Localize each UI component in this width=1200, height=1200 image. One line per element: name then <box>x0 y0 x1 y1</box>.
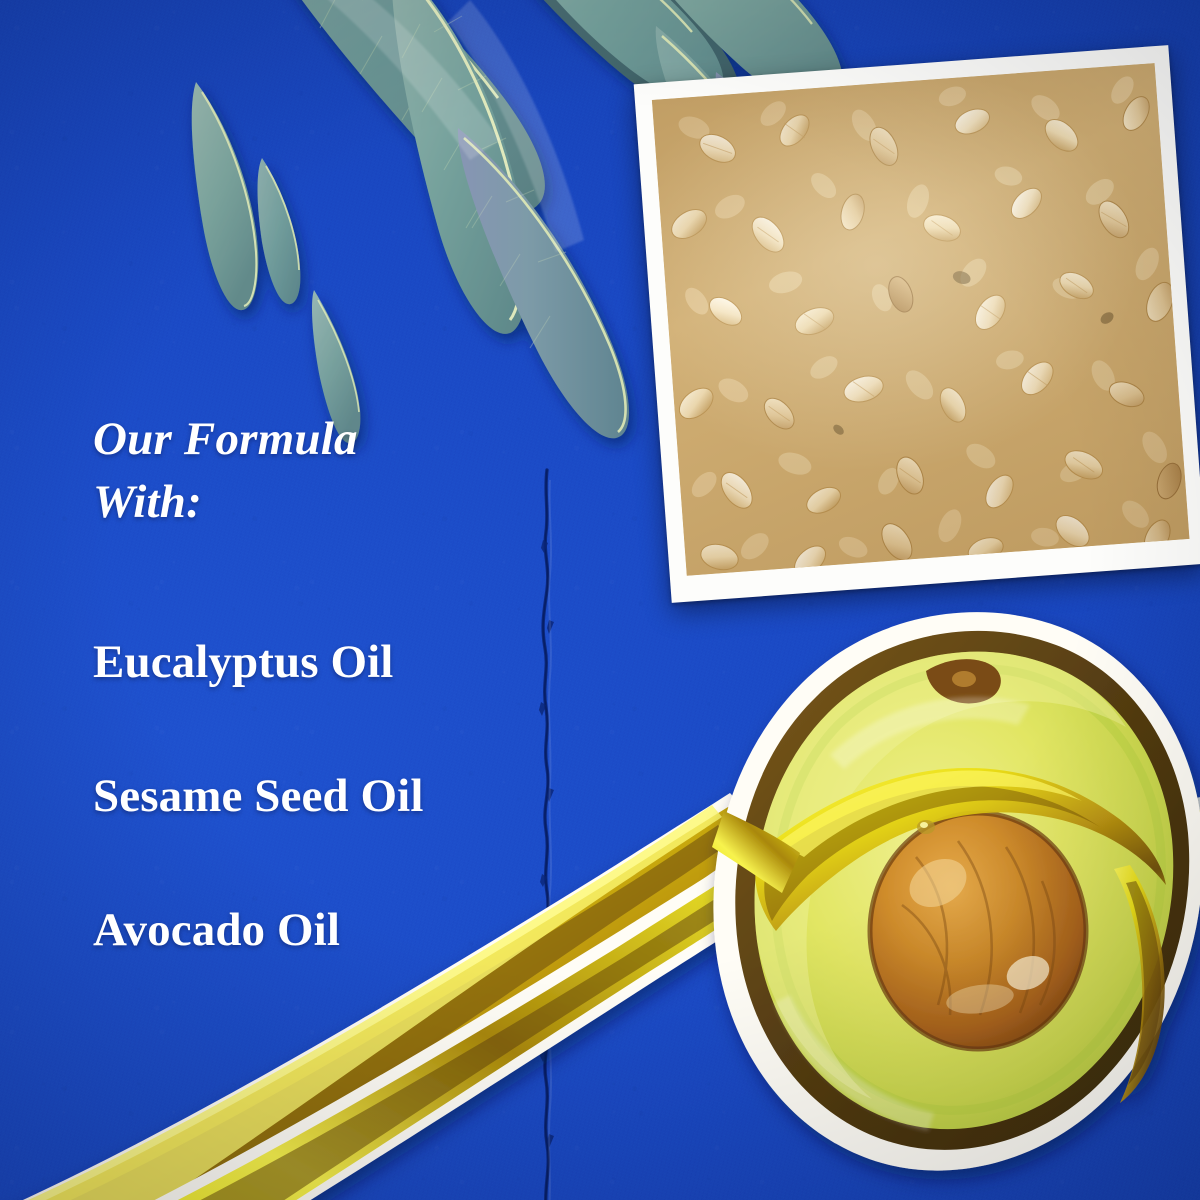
ingredient-list: Eucalyptus Oil Sesame Seed Oil Avocado O… <box>93 639 573 954</box>
ingredient-item-avocado-oil: Avocado Oil <box>93 907 573 954</box>
copy-block: Our Formula With: Eucalyptus Oil Sesame … <box>93 408 573 954</box>
ingredient-item-sesame-seed-oil: Sesame Seed Oil <box>93 773 573 820</box>
headline-line-1: Our Formula <box>93 408 573 471</box>
formula-ingredients-poster: Our Formula With: Eucalyptus Oil Sesame … <box>0 0 1200 1200</box>
ingredient-item-eucalyptus-oil: Eucalyptus Oil <box>93 639 573 686</box>
headline-line-2: With: <box>93 471 573 534</box>
page-title: Our Formula With: <box>93 408 573 533</box>
